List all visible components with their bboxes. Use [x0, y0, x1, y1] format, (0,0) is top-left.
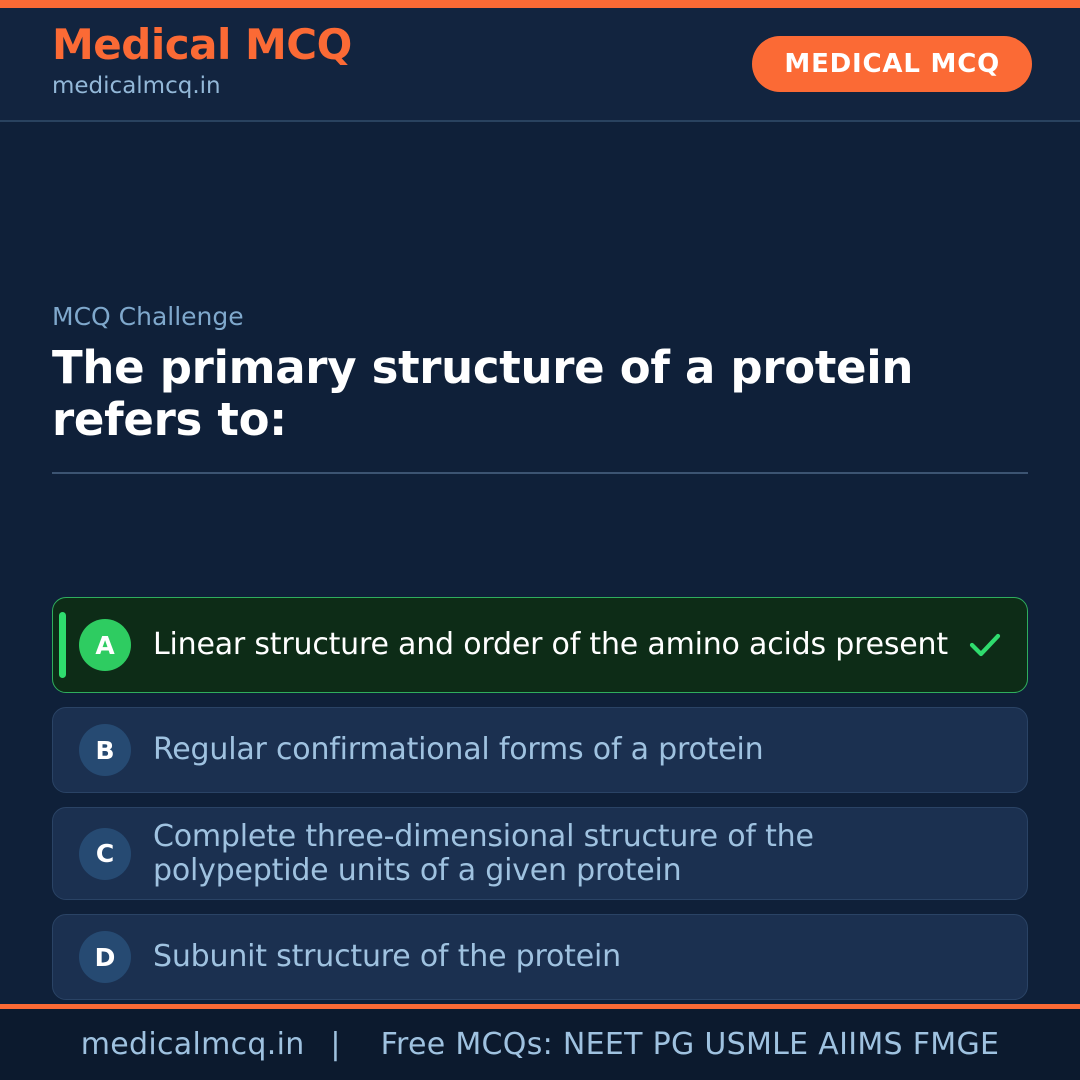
- option-a[interactable]: A Linear structure and order of the amin…: [52, 597, 1028, 693]
- option-text: Complete three-dimensional structure of …: [153, 820, 1005, 887]
- question-eyebrow: MCQ Challenge: [52, 300, 1028, 334]
- mcq-card: Medical MCQ medicalmcq.in MEDICAL MCQ MC…: [0, 0, 1080, 1080]
- footer-exams: Free MCQs: NEET PG USMLE AIIMS FMGE: [367, 1027, 1000, 1062]
- main-content: MCQ Challenge The primary structure of a…: [0, 122, 1080, 1004]
- brand-title: Medical MCQ: [52, 24, 352, 67]
- option-c[interactable]: C Complete three-dimensional structure o…: [52, 807, 1028, 900]
- question-block: MCQ Challenge The primary structure of a…: [52, 300, 1028, 474]
- option-b[interactable]: B Regular confirmational forms of a prot…: [52, 707, 1028, 793]
- title-divider: [52, 472, 1028, 474]
- option-letter-badge: D: [79, 931, 131, 983]
- top-accent-bar: [0, 0, 1080, 8]
- question-title: The primary structure of a protein refer…: [52, 342, 1028, 447]
- option-letter-badge: C: [79, 828, 131, 880]
- footer-separator: |: [314, 1027, 356, 1062]
- option-d[interactable]: D Subunit structure of the protein: [52, 914, 1028, 1000]
- option-letter-badge: A: [79, 619, 131, 671]
- brand: Medical MCQ medicalmcq.in: [52, 24, 352, 103]
- footer-text: medicalmcq.in | Free MCQs: NEET PG USMLE…: [81, 1027, 1000, 1062]
- header-badge: MEDICAL MCQ: [752, 36, 1032, 92]
- options-list: A Linear structure and order of the amin…: [52, 597, 1028, 1000]
- option-text: Linear structure and order of the amino …: [153, 628, 959, 662]
- option-text: Subunit structure of the protein: [153, 940, 1005, 974]
- option-letter-badge: B: [79, 724, 131, 776]
- page-footer: medicalmcq.in | Free MCQs: NEET PG USMLE…: [0, 1004, 1080, 1080]
- brand-subtitle: medicalmcq.in: [52, 69, 352, 104]
- option-text: Regular confirmational forms of a protei…: [153, 733, 1005, 767]
- footer-site: medicalmcq.in: [81, 1027, 305, 1062]
- check-icon: [965, 625, 1005, 665]
- page-header: Medical MCQ medicalmcq.in MEDICAL MCQ: [0, 8, 1080, 122]
- correct-accent-bar: [59, 612, 66, 678]
